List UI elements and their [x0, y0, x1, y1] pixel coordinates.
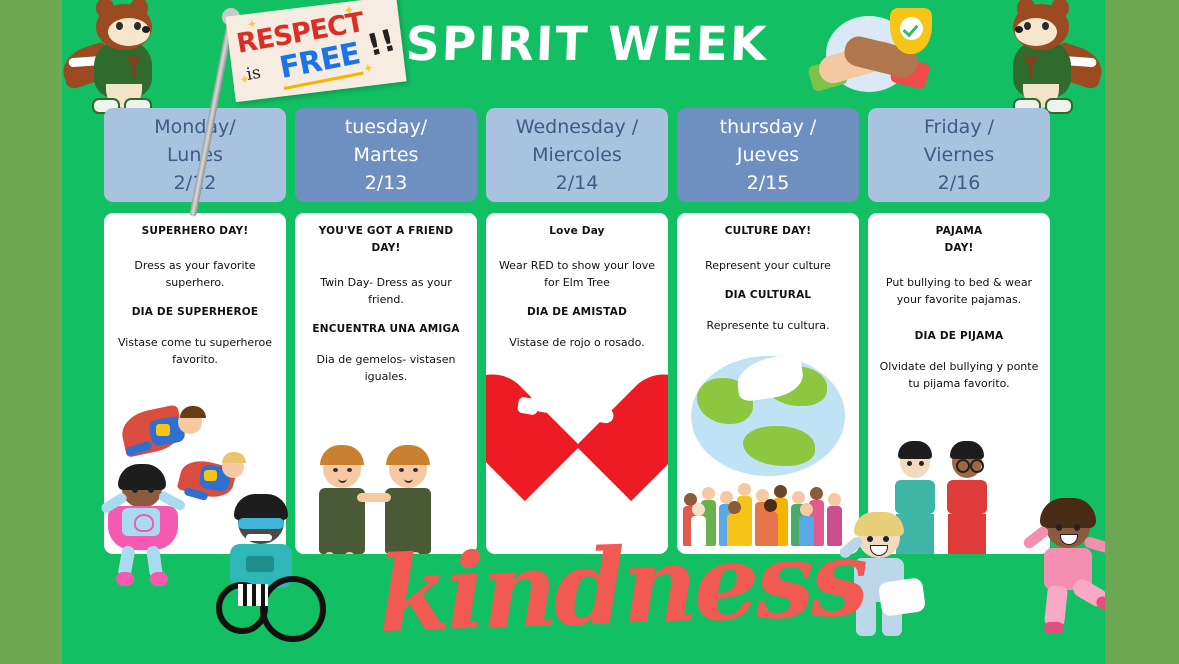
day-body-es: Represente tu cultura.	[686, 317, 850, 334]
respect-is-free-sign: ✦ ✦ ✦ ✦ RESPECT is FREE !!	[225, 0, 406, 102]
day-body-es: Vistase come tu superheroe favorito.	[113, 334, 277, 368]
day-title-es: DIA DE AMISTAD	[495, 304, 659, 321]
day-column-friday: Friday / Viernes 2/16 PAJAMA DAY! Put bu…	[868, 108, 1050, 202]
day-name-line2: Martes	[354, 141, 419, 169]
poster-canvas: ✦ ✦ ✦ ✦ RESPECT is FREE !! SPIRIT WEEK	[62, 0, 1105, 664]
poster-header: ✦ ✦ ✦ ✦ RESPECT is FREE !! SPIRIT WEEK	[62, 0, 1105, 108]
day-body-en: Put bullying to bed & wear your favorite…	[877, 274, 1041, 308]
day-name-line2: Miercoles	[532, 141, 622, 169]
day-card-friday: PAJAMA DAY! Put bullying to bed & wear y…	[868, 213, 1050, 554]
day-header-friday: Friday / Viernes 2/16	[868, 108, 1050, 202]
spirit-week-poster: ✦ ✦ ✦ ✦ RESPECT is FREE !! SPIRIT WEEK	[0, 0, 1179, 664]
kindness-script-text: kindness	[376, 520, 850, 656]
day-name-line2: Lunes	[167, 141, 223, 169]
day-card-tuesday: YOU'VE GOT A FRIEND DAY! Twin Day- Dress…	[295, 213, 477, 554]
day-title-en: Love Day	[495, 223, 659, 240]
day-body-es: Dia de gemelos- vistasen iguales.	[304, 351, 468, 385]
day-body-en: Twin Day- Dress as your friend.	[304, 274, 468, 308]
day-body-en: Dress as your favorite superhero.	[113, 257, 277, 291]
day-card-wednesday: Love Day Wear RED to show your love for …	[486, 213, 668, 554]
wheelchair-hero-kid-illustration	[212, 500, 322, 630]
day-date: 2/14	[556, 169, 599, 197]
supergirl-kid-illustration	[100, 470, 190, 590]
day-column-tuesday: tuesday/ Martes 2/13 YOU'VE GOT A FRIEND…	[295, 108, 477, 202]
chipmunk-mascot-icon	[72, 0, 168, 112]
day-header-wednesday: Wednesday / Miercoles 2/14	[486, 108, 668, 202]
page-title: SPIRIT WEEK	[391, 16, 783, 74]
day-column-thursday: thursday / Jueves 2/15 CULTURE DAY! Repr…	[677, 108, 859, 202]
day-title-en-line1: PAJAMA	[877, 223, 1041, 240]
day-title-en: SUPERHERO DAY!	[113, 223, 277, 240]
day-name-line1: Monday/	[154, 113, 235, 141]
day-title-es: DIA CULTURAL	[686, 287, 850, 304]
day-name-line2: Jueves	[737, 141, 799, 169]
day-title-en-line2: DAY!	[877, 240, 1041, 257]
day-title-en: CULTURE DAY!	[686, 223, 850, 240]
day-date: 2/16	[938, 169, 981, 197]
day-body-en: Represent your culture	[686, 257, 850, 274]
day-name-line2: Viernes	[924, 141, 995, 169]
day-header-tuesday: tuesday/ Martes 2/13	[295, 108, 477, 202]
day-name-line1: Wednesday /	[516, 113, 638, 141]
pink-pajama-girl-illustration	[1020, 506, 1105, 638]
day-date: 2/13	[365, 169, 408, 197]
day-body-es: Olvidate del bullying y ponte tu pijama …	[877, 358, 1041, 392]
day-name-line1: tuesday/	[345, 113, 427, 141]
sign-word-exclamations: !!	[364, 23, 400, 64]
day-card-thursday: CULTURE DAY! Represent your culture DIA …	[677, 213, 859, 554]
day-title-es: DIA DE SUPERHEROE	[113, 304, 277, 321]
day-date: 2/15	[747, 169, 790, 197]
day-name-line1: thursday /	[720, 113, 817, 141]
day-title-en: YOU'VE GOT A FRIEND DAY!	[304, 223, 468, 257]
day-title-es: ENCUENTRA UNA AMIGA	[304, 321, 468, 338]
day-name-line1: Friday /	[924, 113, 994, 141]
heart-with-hugging-arms-illustration	[502, 322, 652, 458]
sign-word-is: is	[245, 63, 262, 85]
day-column-wednesday: Wednesday / Miercoles 2/14 Love Day Wear…	[486, 108, 668, 202]
day-body-en: Wear RED to show your love for Elm Tree	[495, 257, 659, 291]
handshake-icon	[810, 4, 942, 100]
day-title-es: DIA DE PIJAMA	[877, 328, 1041, 345]
day-header-thursday: thursday / Jueves 2/15	[677, 108, 859, 202]
chipmunk-mascot-icon	[997, 0, 1093, 112]
